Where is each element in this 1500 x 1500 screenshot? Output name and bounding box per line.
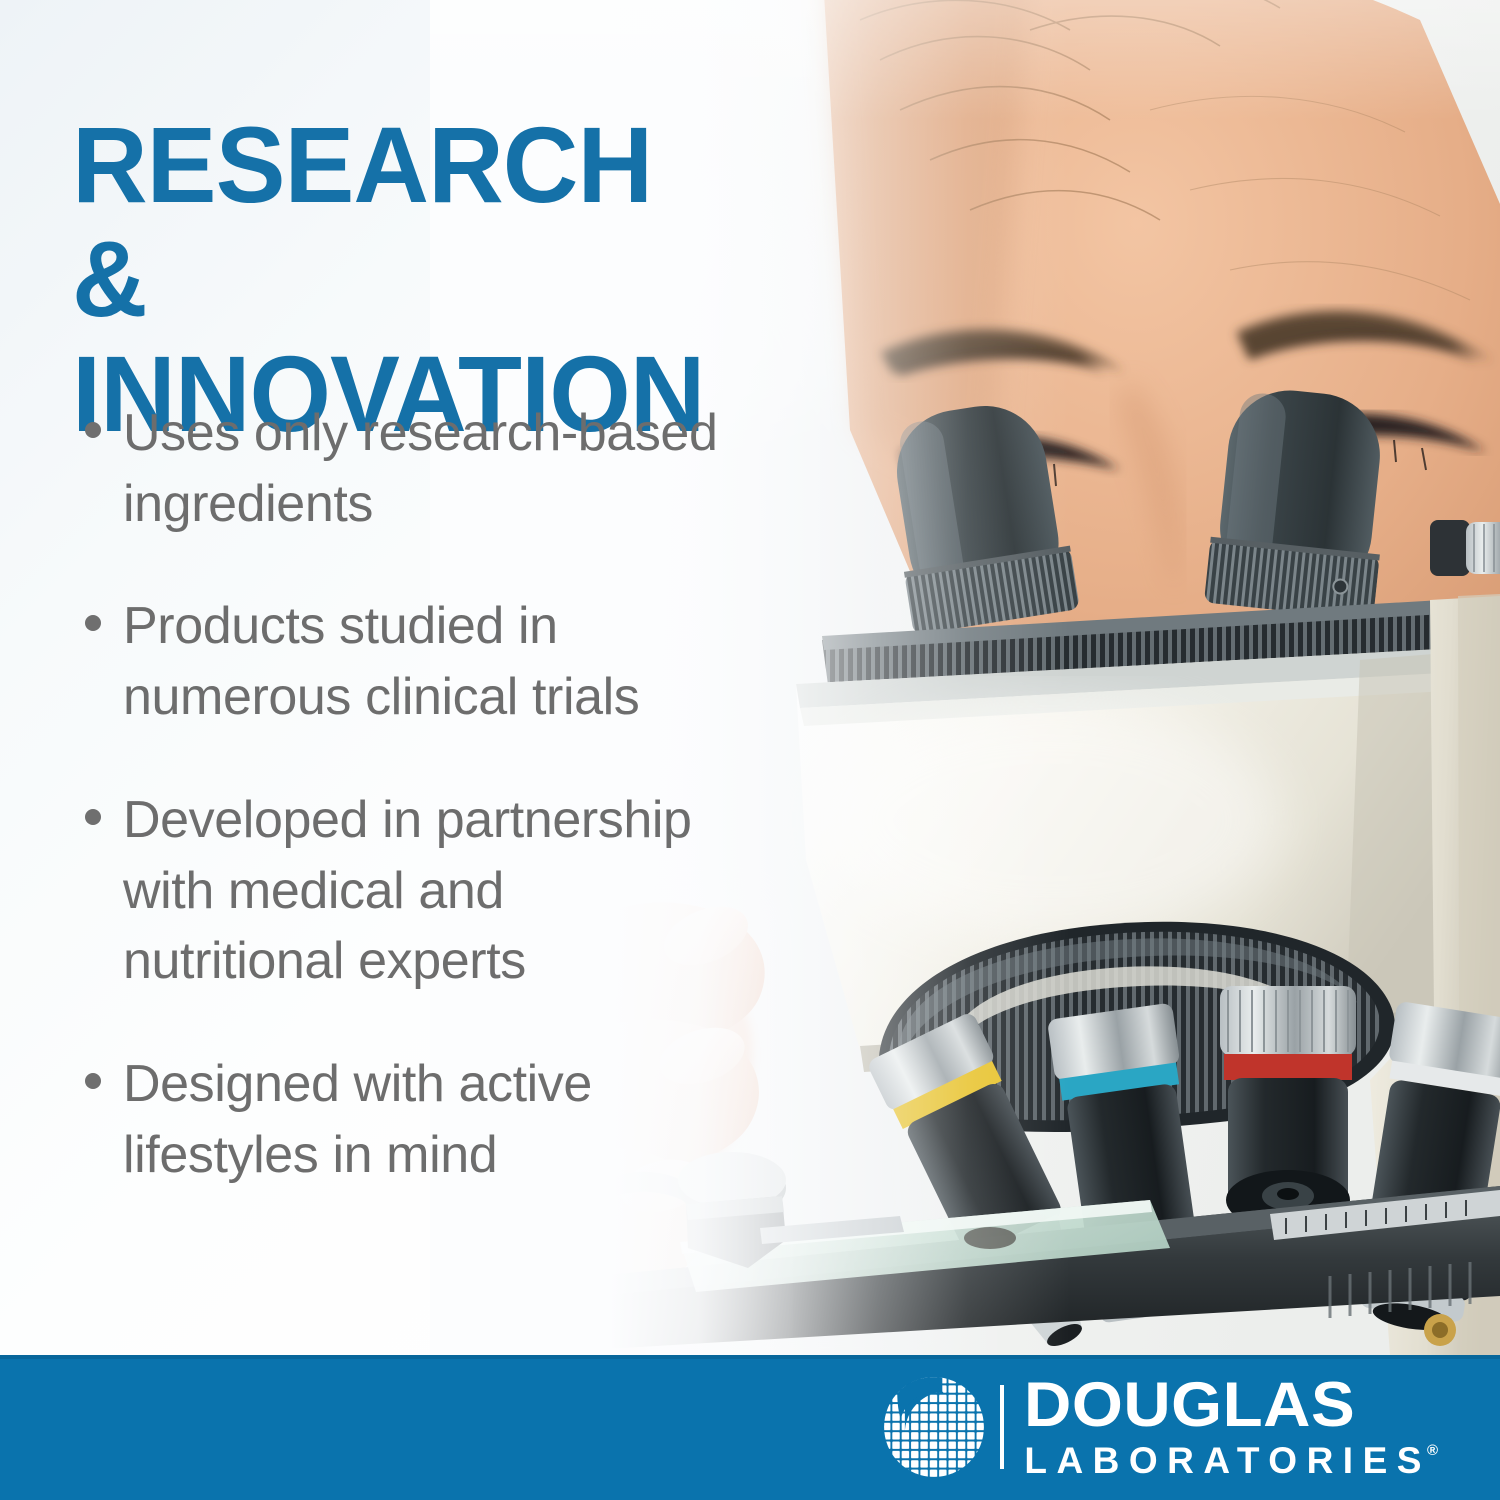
douglas-laboratories-logo: DOUGLAS LABORATORIES ® <box>882 1371 1438 1483</box>
list-item-label: Developed in partnership with medical an… <box>123 785 856 997</box>
list-item: Products studied in numerous clinical tr… <box>66 591 856 732</box>
halftone-grid-circle-icon <box>882 1375 986 1479</box>
registered-trademark-icon: ® <box>1427 1443 1438 1458</box>
objective-red <box>1220 986 1356 1230</box>
list-item: Designed with active lifestyles in mind <box>66 1049 856 1190</box>
list-item-label: Products studied in numerous clinical tr… <box>123 591 856 732</box>
benefits-list: Uses only research-based ingredients Pro… <box>66 398 856 1242</box>
logo-brand-name: DOUGLAS <box>1024 1375 1454 1435</box>
list-item-label: Designed with active lifestyles in mind <box>123 1049 856 1190</box>
brand-footer-bar: DOUGLAS LABORATORIES ® <box>0 1355 1500 1500</box>
content-column: RESEARCH & INNOVATION Uses only research… <box>0 0 860 1355</box>
logo-brand-sub-row: LABORATORIES ® <box>1024 1442 1438 1479</box>
logo-wordmark: DOUGLAS LABORATORIES ® <box>1024 1375 1438 1478</box>
list-item: Developed in partnership with medical an… <box>66 785 856 997</box>
bullet-dot-icon <box>85 615 101 631</box>
bullet-dot-icon <box>85 809 101 825</box>
logo-divider <box>1000 1385 1004 1469</box>
logo-brand-sub: LABORATORIES <box>1024 1442 1431 1479</box>
footer-top-divider <box>0 1355 1500 1359</box>
poster-canvas: RESEARCH & INNOVATION Uses only research… <box>0 0 1500 1500</box>
list-item-label: Uses only research-based ingredients <box>123 398 856 539</box>
bullet-dot-icon <box>85 422 101 438</box>
bullet-dot-icon <box>85 1073 101 1089</box>
list-item: Uses only research-based ingredients <box>66 398 856 539</box>
